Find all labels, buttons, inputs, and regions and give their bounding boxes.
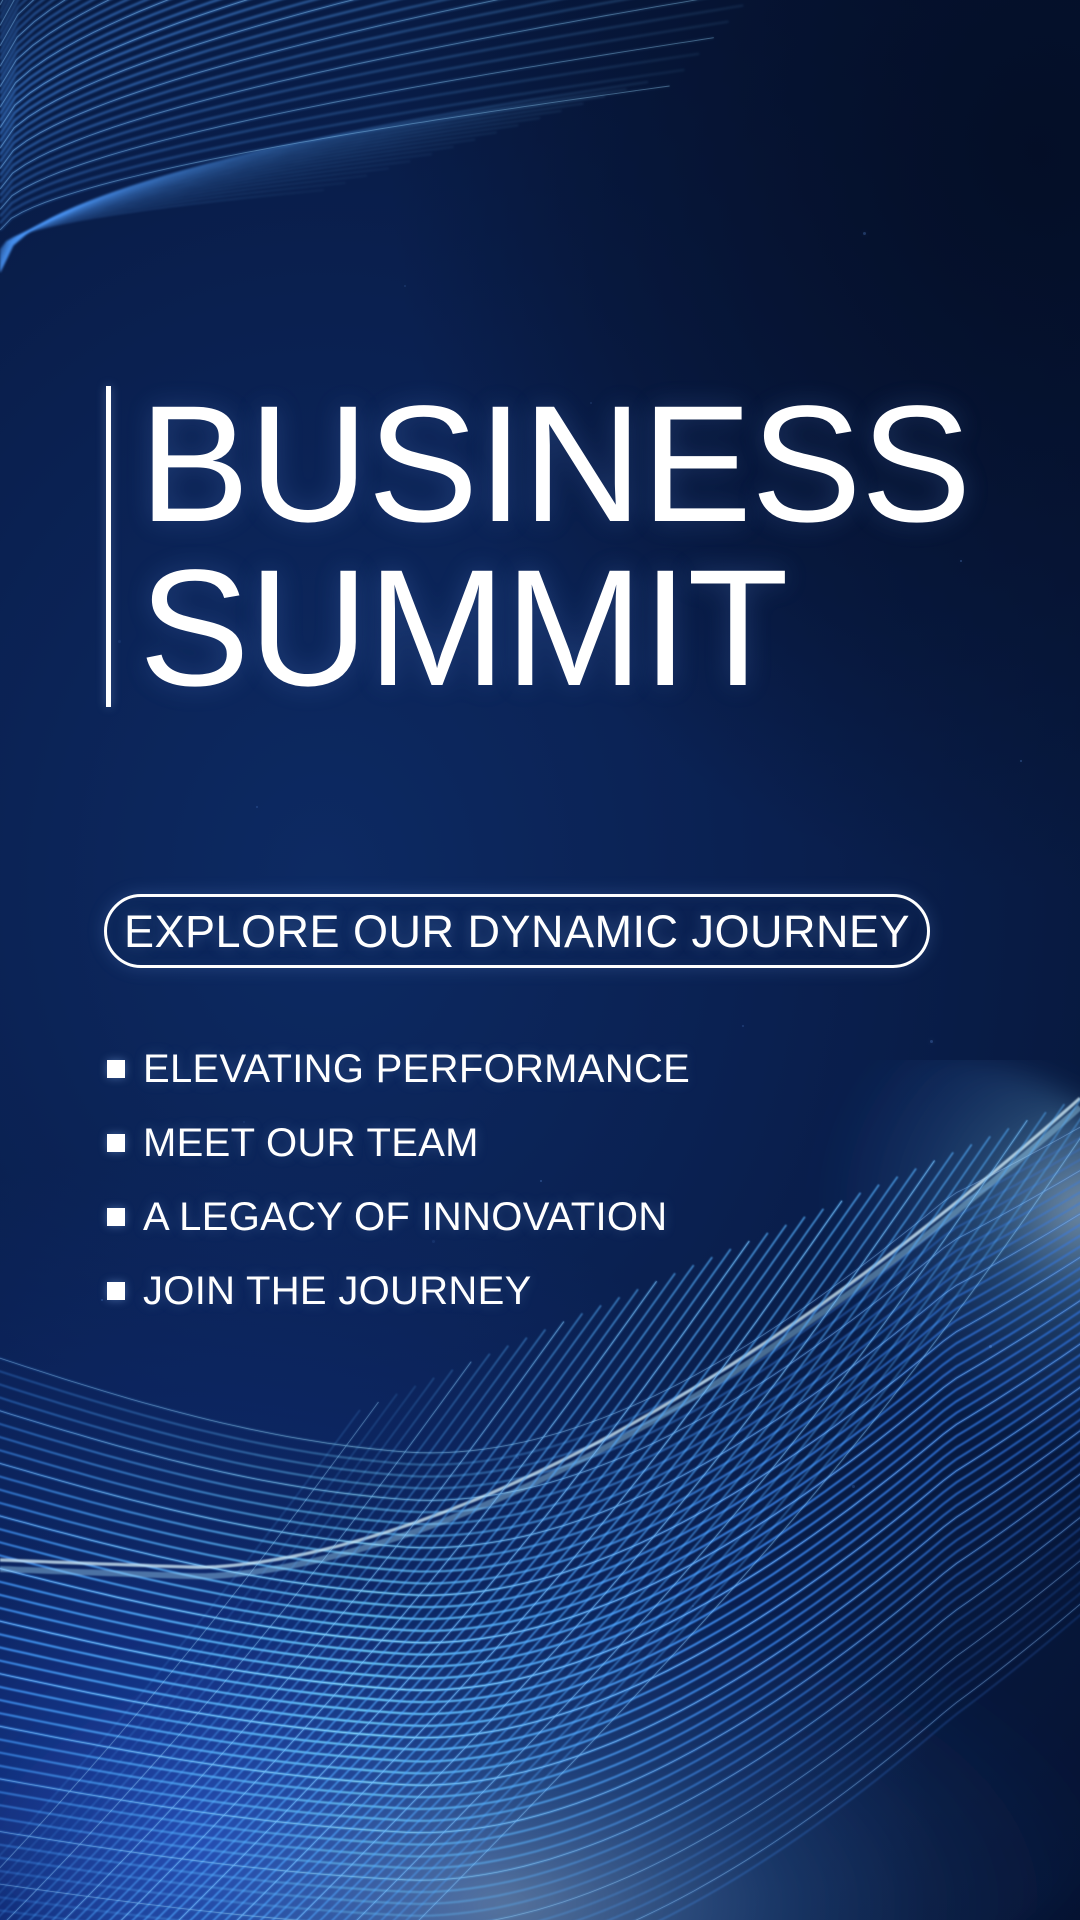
list-item[interactable]: MEET OUR TEAM (107, 1106, 690, 1180)
title-block: BUSINESS SUMMIT (106, 386, 970, 707)
title-accent-bar (106, 386, 111, 707)
square-bullet-icon (107, 1134, 125, 1152)
list-item-label: A LEGACY OF INNOVATION (143, 1197, 668, 1237)
page-title: BUSINESS SUMMIT (139, 386, 970, 707)
list-item[interactable]: JOIN THE JOURNEY (107, 1254, 690, 1328)
list-item[interactable]: A LEGACY OF INNOVATION (107, 1180, 690, 1254)
agenda-list: ELEVATING PERFORMANCE MEET OUR TEAM A LE… (107, 1032, 690, 1328)
square-bullet-icon (107, 1060, 125, 1078)
title-line-1: BUSINESS (139, 386, 970, 544)
list-item-label: JOIN THE JOURNEY (143, 1271, 532, 1311)
list-item[interactable]: ELEVATING PERFORMANCE (107, 1032, 690, 1106)
explore-journey-button[interactable]: EXPLORE OUR DYNAMIC JOURNEY (104, 894, 930, 968)
explore-journey-button-label: EXPLORE OUR DYNAMIC JOURNEY (124, 909, 910, 954)
title-line-2: SUMMIT (139, 550, 970, 708)
business-summit-poster: BUSINESS SUMMIT EXPLORE OUR DYNAMIC JOUR… (0, 0, 1080, 1920)
list-item-label: MEET OUR TEAM (143, 1123, 479, 1163)
list-item-label: ELEVATING PERFORMANCE (143, 1049, 690, 1089)
poster-content: BUSINESS SUMMIT EXPLORE OUR DYNAMIC JOUR… (0, 0, 1080, 1920)
square-bullet-icon (107, 1208, 125, 1226)
square-bullet-icon (107, 1282, 125, 1300)
